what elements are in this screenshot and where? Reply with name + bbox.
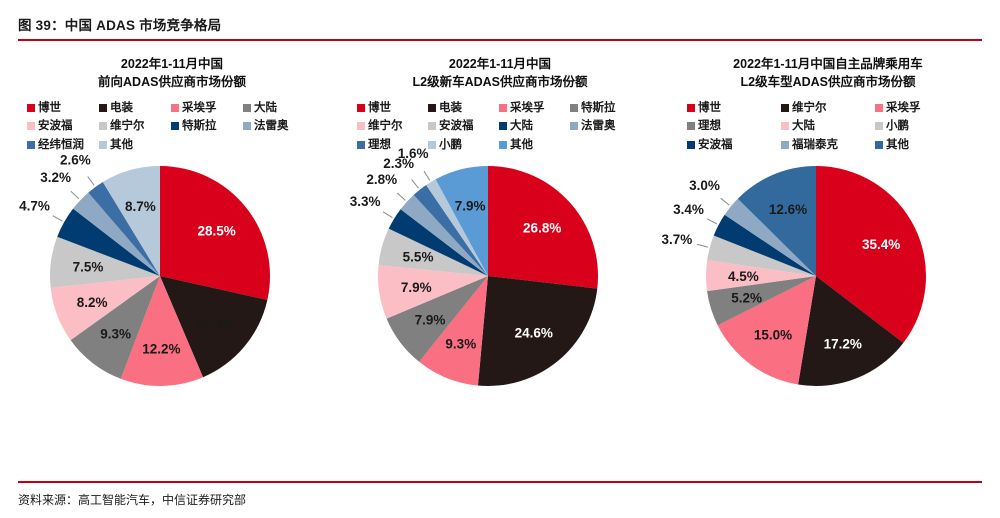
legend-item-label: 其他 [110, 138, 133, 152]
legend-swatch-icon [781, 122, 789, 130]
pie-slice-label: 2.8% [366, 172, 397, 187]
chart-title-line-1: 2022年1-11月中国 [412, 55, 587, 73]
label-leader-line [71, 191, 79, 199]
pie-slice-label: 3.0% [689, 178, 720, 193]
legend-item[interactable]: 其他 [99, 138, 171, 152]
legend-item-label: 其他 [510, 138, 533, 152]
legend-item-label: 安波福 [698, 138, 733, 152]
legend-item-label: 安波福 [439, 119, 474, 133]
legend-item[interactable]: 电装 [428, 101, 499, 115]
pie-slice-label: 5.5% [403, 249, 434, 264]
legend-swatch-icon [875, 104, 883, 112]
pie-slice-label: 7.9% [401, 280, 432, 295]
footer-divider [18, 481, 982, 483]
legend-item[interactable]: 维宁尔 [781, 101, 875, 115]
legend-item[interactable]: 小鹏 [428, 138, 499, 152]
chart-panel-l2-new-car: 2022年1-11月中国 L2级新车ADAS供应商市场份额 博世电装采埃孚特斯拉… [336, 55, 664, 392]
legend-item[interactable]: 安波福 [687, 138, 781, 152]
legend-item-label: 维宁尔 [110, 119, 145, 133]
legend-item-label: 经纬恒润 [38, 138, 84, 152]
pie-l2-domestic-brand: 35.4%17.2%15.0%5.2%4.5%3.7%3.4%3.0%12.6% [688, 160, 968, 392]
label-leader-line [412, 180, 419, 189]
pie-slice-label: 4.5% [728, 269, 759, 284]
legend-l2-new-car: 博世电装采埃孚特斯拉维宁尔安波福大陆法雷奥理想小鹏其他 [357, 101, 643, 152]
legend-item[interactable]: 博世 [357, 101, 428, 115]
legend-swatch-icon [781, 141, 789, 149]
legend-item[interactable]: 电装 [99, 101, 171, 115]
legend-item-label: 博世 [698, 101, 721, 115]
legend-item-label: 采埃孚 [886, 101, 921, 115]
figure-footer: 资料来源：高工智能汽车，中信证券研究部 [0, 481, 1000, 518]
pie-slice-label: 35.4% [862, 237, 900, 252]
legend-item-label: 电装 [110, 101, 133, 115]
chart-title-line-1: 2022年1-11月中国自主品牌乘用车 [733, 55, 923, 73]
legend-item-label: 大陆 [792, 119, 815, 133]
pie-slice-label: 4.7% [19, 198, 50, 213]
chart-title-line-1: 2022年1-11月中国 [98, 55, 246, 73]
pie-l2-new-car: 26.8%24.6%9.3%7.9%7.9%5.5%3.3%2.8%2.3%1.… [360, 160, 640, 392]
legend-swatch-icon [99, 122, 107, 130]
source-note: 资料来源：高工智能汽车，中信证券研究部 [18, 491, 982, 508]
legend-item[interactable]: 其他 [875, 138, 969, 152]
legend-item[interactable]: 采埃孚 [171, 101, 243, 115]
pie-slice-label: 1.6% [398, 146, 429, 161]
legend-swatch-icon [27, 104, 35, 112]
legend-item[interactable]: 博世 [27, 101, 99, 115]
legend-swatch-icon [875, 122, 883, 130]
legend-l2-domestic-brand: 博世维宁尔采埃孚理想大陆小鹏安波福福瑞泰克其他 [687, 101, 969, 152]
legend-item-label: 博世 [38, 101, 61, 115]
legend-swatch-icon [570, 122, 578, 130]
chart-title-l2-new-car: 2022年1-11月中国 L2级新车ADAS供应商市场份额 [412, 55, 587, 91]
legend-swatch-icon [499, 141, 507, 149]
legend-swatch-icon [428, 141, 436, 149]
legend-swatch-icon [99, 141, 107, 149]
pie-slice-label: 3.7% [661, 232, 692, 247]
pie-slice-label: 28.5% [198, 224, 236, 239]
pie-chart-svg: 28.5%15.1%12.2%9.3%8.2%7.5%4.7%3.2%2.6%8… [32, 160, 312, 392]
pie-slice-label: 3.4% [673, 202, 704, 217]
legend-swatch-icon [357, 122, 365, 130]
legend-item-label: 维宁尔 [792, 101, 827, 115]
pie-slice-label: 8.2% [77, 295, 108, 310]
chart-title-line-2: L2级车型ADAS供应商市场份额 [733, 73, 923, 91]
legend-item-label: 大陆 [510, 119, 533, 133]
legend-item[interactable]: 采埃孚 [875, 101, 969, 115]
legend-item[interactable]: 法雷奥 [243, 119, 317, 133]
legend-item-label: 博世 [368, 101, 391, 115]
pie-slice-label: 15.0% [754, 327, 792, 342]
legend-swatch-icon [171, 104, 179, 112]
legend-item-label: 小鹏 [886, 119, 909, 133]
pie-slice-label: 9.3% [445, 336, 476, 351]
legend-swatch-icon [499, 122, 507, 130]
legend-swatch-icon [570, 104, 578, 112]
pie-chart-svg: 26.8%24.6%9.3%7.9%7.9%5.5%3.3%2.8%2.3%1.… [360, 160, 640, 392]
pie-slice-label: 2.6% [60, 152, 91, 167]
legend-item[interactable]: 博世 [687, 101, 781, 115]
legend-item-label: 电装 [439, 101, 462, 115]
pie-slice-label: 26.8% [523, 221, 561, 236]
pie-slice-label: 24.6% [515, 325, 553, 340]
legend-item[interactable]: 特斯拉 [570, 101, 641, 115]
legend-swatch-icon [27, 122, 35, 130]
pie-slice-label: 3.2% [40, 170, 71, 185]
legend-swatch-icon [687, 141, 695, 149]
legend-item[interactable]: 维宁尔 [357, 119, 428, 133]
pie-slice-label: 5.2% [731, 291, 762, 306]
chart-title-line-2: 前向ADAS供应商市场份额 [98, 73, 246, 91]
legend-swatch-icon [428, 104, 436, 112]
label-leader-line [721, 198, 730, 205]
chart-title-line-2: L2级新车ADAS供应商市场份额 [412, 73, 587, 91]
charts-row: 2022年1-11月中国 前向ADAS供应商市场份额 博世电装采埃孚大陆安波福维… [0, 41, 1000, 482]
legend-forward-adas: 博世电装采埃孚大陆安波福维宁尔特斯拉法雷奥经纬恒润其他 [27, 101, 317, 152]
label-leader-line [88, 176, 94, 185]
legend-swatch-icon [687, 122, 695, 130]
legend-item[interactable]: 其他 [499, 138, 570, 152]
legend-item[interactable]: 福瑞泰克 [781, 138, 875, 152]
label-leader-line [697, 244, 708, 247]
legend-item-label: 特斯拉 [581, 101, 616, 115]
legend-swatch-icon [357, 141, 365, 149]
label-leader-line [707, 219, 717, 224]
legend-item[interactable]: 小鹏 [875, 119, 969, 133]
legend-item[interactable]: 维宁尔 [99, 119, 171, 133]
chart-panel-forward-adas: 2022年1-11月中国 前向ADAS供应商市场份额 博世电装采埃孚大陆安波福维… [8, 55, 336, 392]
figure-container: 图 39：中国 ADAS 市场竞争格局 2022年1-11月中国 前向ADAS供… [0, 0, 1000, 518]
pie-slice-label: 17.2% [824, 336, 862, 351]
legend-item[interactable]: 特斯拉 [171, 119, 243, 133]
legend-item-label: 特斯拉 [182, 119, 217, 133]
legend-swatch-icon [499, 104, 507, 112]
pie-slice-label: 9.3% [100, 326, 131, 341]
legend-swatch-icon [243, 104, 251, 112]
legend-item[interactable]: 法雷奥 [570, 119, 641, 133]
legend-swatch-icon [428, 122, 436, 130]
legend-item[interactable]: 采埃孚 [499, 101, 570, 115]
legend-item[interactable]: 安波福 [428, 119, 499, 133]
legend-swatch-icon [243, 122, 251, 130]
legend-item-label: 理想 [368, 138, 391, 152]
legend-item-label: 小鹏 [439, 138, 462, 152]
legend-item-label: 法雷奥 [254, 119, 289, 133]
chart-title-forward-adas: 2022年1-11月中国 前向ADAS供应商市场份额 [98, 55, 246, 91]
legend-swatch-icon [687, 104, 695, 112]
label-leader-line [397, 193, 405, 200]
pie-chart-svg: 35.4%17.2%15.0%5.2%4.5%3.7%3.4%3.0%12.6% [688, 160, 968, 392]
pie-slice-label: 7.5% [73, 260, 104, 275]
legend-item[interactable]: 大陆 [499, 119, 570, 133]
label-leader-line [383, 212, 392, 218]
chart-title-l2-domestic-brand: 2022年1-11月中国自主品牌乘用车 L2级车型ADAS供应商市场份额 [733, 55, 923, 91]
chart-panel-l2-domestic-brand: 2022年1-11月中国自主品牌乘用车 L2级车型ADAS供应商市场份额 博世维… [664, 55, 992, 392]
legend-item[interactable]: 大陆 [781, 119, 875, 133]
label-leader-line [53, 216, 63, 221]
pie-slice-label: 7.9% [455, 199, 486, 214]
legend-item-label: 法雷奥 [581, 119, 616, 133]
legend-swatch-icon [781, 104, 789, 112]
legend-item-label: 采埃孚 [510, 101, 545, 115]
pie-slice-label: 12.6% [769, 202, 807, 217]
legend-item[interactable]: 安波福 [27, 119, 99, 133]
label-leader-line [424, 171, 430, 180]
legend-item-label: 理想 [698, 119, 721, 133]
legend-swatch-icon [27, 141, 35, 149]
pie-slice-label: 15.1% [197, 315, 235, 330]
page-title: 图 39：中国 ADAS 市场竞争格局 [18, 14, 982, 39]
pie-slice-label: 3.3% [350, 194, 381, 209]
legend-item-label: 其他 [886, 138, 909, 152]
legend-item-label: 维宁尔 [368, 119, 403, 133]
legend-swatch-icon [99, 104, 107, 112]
legend-item[interactable]: 理想 [687, 119, 781, 133]
legend-item-label: 大陆 [254, 101, 277, 115]
legend-swatch-icon [357, 104, 365, 112]
legend-item[interactable]: 经纬恒润 [27, 138, 99, 152]
legend-item-label: 福瑞泰克 [792, 138, 838, 152]
figure-header: 图 39：中国 ADAS 市场竞争格局 [0, 0, 1000, 41]
pie-slice-label: 7.9% [415, 313, 446, 328]
legend-swatch-icon [171, 122, 179, 130]
legend-item-label: 采埃孚 [182, 101, 217, 115]
pie-slice-label: 12.2% [142, 342, 180, 357]
legend-item-label: 安波福 [38, 119, 73, 133]
legend-swatch-icon [875, 141, 883, 149]
legend-item[interactable]: 大陆 [243, 101, 317, 115]
pie-slice-label: 8.7% [125, 199, 156, 214]
pie-forward-adas: 28.5%15.1%12.2%9.3%8.2%7.5%4.7%3.2%2.6%8… [32, 160, 312, 392]
